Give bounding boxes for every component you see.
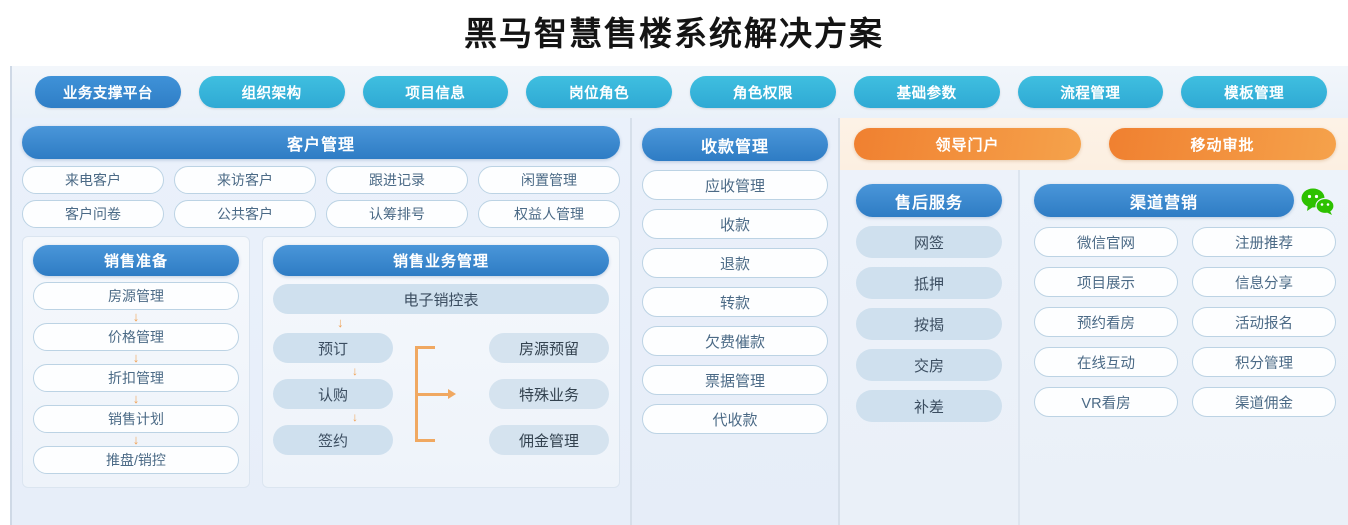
chip-transfer-payment[interactable]: 转款 xyxy=(642,287,828,317)
flow-arrow-down-icon: ↓ xyxy=(352,411,358,423)
chip-visiting-customer[interactable]: 来访客户 xyxy=(174,166,316,194)
nav-pill-project-info[interactable]: 项目信息 xyxy=(363,76,509,108)
chip-property-management[interactable]: 房源管理 xyxy=(33,282,239,310)
channel-marketing-column: 渠道营销 xyxy=(1020,170,1348,525)
wechat-icon xyxy=(1300,186,1336,216)
sales-preparation-flow: 房源管理 ↓ 价格管理 ↓ 折扣管理 ↓ 销售计划 ↓ 推盘/销控 xyxy=(33,282,239,474)
panel-sales-left: 客户管理 来电客户 来访客户 跟进记录 闲置管理 客户问卷 公共客户 认筹排号 … xyxy=(12,118,632,525)
portal-bar: 领导门户 移动审批 xyxy=(840,118,1348,170)
chip-subscription-number[interactable]: 认筹排号 xyxy=(326,200,468,228)
customer-management-header: 客户管理 xyxy=(22,126,620,159)
chip-wechat-official-site[interactable]: 微信官网 xyxy=(1034,227,1178,257)
chip-discount-management[interactable]: 折扣管理 xyxy=(33,364,239,392)
panel-right: 领导门户 移动审批 售后服务 网签 抵押 按揭 交房 补差 xyxy=(840,118,1348,525)
chip-arrears-reminder[interactable]: 欠费催款 xyxy=(642,326,828,356)
chip-mortgage-pledge[interactable]: 抵押 xyxy=(856,267,1002,299)
chip-rights-holder-management[interactable]: 权益人管理 xyxy=(478,200,620,228)
electronic-sales-table-row: 电子销控表 ↓ xyxy=(273,284,609,330)
nav-pill-process-mgmt[interactable]: 流程管理 xyxy=(1018,76,1164,108)
chip-electronic-sales-control-table[interactable]: 电子销控表 xyxy=(273,284,609,314)
chip-online-interaction[interactable]: 在线互动 xyxy=(1034,347,1178,377)
chip-reservation[interactable]: 预订 xyxy=(273,333,393,363)
chip-price-difference[interactable]: 补差 xyxy=(856,390,1002,422)
nav-pill-role-permission[interactable]: 角色权限 xyxy=(690,76,836,108)
nav-pill-business-support[interactable]: 业务支撑平台 xyxy=(35,76,181,108)
top-navigation: 业务支撑平台 组织架构 项目信息 岗位角色 角色权限 基础参数 流程管理 模板管… xyxy=(12,66,1348,118)
sales-business-flow: 预订 房源预留 认购 特殊业务 xyxy=(273,332,609,456)
chip-customer-questionnaire[interactable]: 客户问卷 xyxy=(22,200,164,228)
chip-contract-signing[interactable]: 签约 xyxy=(273,425,393,455)
chip-incoming-call-customer[interactable]: 来电客户 xyxy=(22,166,164,194)
collection-header: 收款管理 xyxy=(642,128,828,161)
chip-sales-plan[interactable]: 销售计划 xyxy=(33,405,239,433)
page-title-bar: 黑马智慧售楼系统解决方案 xyxy=(0,0,1348,62)
chip-registration-referral[interactable]: 注册推荐 xyxy=(1192,227,1336,257)
chip-bill-management[interactable]: 票据管理 xyxy=(642,365,828,395)
chip-event-registration[interactable]: 活动报名 xyxy=(1192,307,1336,337)
nav-pill-org-structure[interactable]: 组织架构 xyxy=(199,76,345,108)
customer-management-items: 来电客户 来访客户 跟进记录 闲置管理 客户问卷 公共客户 认筹排号 权益人管理 xyxy=(22,166,620,228)
chip-vr-house-viewing[interactable]: VR看房 xyxy=(1034,387,1178,417)
portal-button-leader[interactable]: 领导门户 xyxy=(854,128,1081,160)
channel-marketing-items: 微信官网 注册推荐 项目展示 信息分享 预约看房 活动报名 在线互动 积分管理 … xyxy=(1034,227,1336,417)
chip-refund[interactable]: 退款 xyxy=(642,248,828,278)
customer-management-block: 客户管理 来电客户 来访客户 跟进记录 闲置管理 客户问卷 公共客户 认筹排号 … xyxy=(22,126,620,228)
chip-receivable-management[interactable]: 应收管理 xyxy=(642,170,828,200)
portal-button-mobile-approval[interactable]: 移动审批 xyxy=(1109,128,1336,160)
chip-property-reservation[interactable]: 房源预留 xyxy=(489,333,609,363)
after-sales-column: 售后服务 网签 抵押 按揭 交房 补差 xyxy=(840,170,1020,525)
chip-subscription[interactable]: 认购 xyxy=(273,379,393,409)
sales-business-header: 销售业务管理 xyxy=(273,245,609,276)
chip-information-sharing[interactable]: 信息分享 xyxy=(1192,267,1336,297)
flow-arrow-down-icon: ↓ xyxy=(33,351,239,364)
bracket-connector-icon xyxy=(393,332,489,456)
chip-special-business[interactable]: 特殊业务 xyxy=(489,379,609,409)
chip-mortgage-loan[interactable]: 按揭 xyxy=(856,308,1002,340)
flow-arrow-down-icon: ↓ xyxy=(273,314,609,330)
chip-channel-commission[interactable]: 渠道佣金 xyxy=(1192,387,1336,417)
nav-pill-position-role[interactable]: 岗位角色 xyxy=(526,76,672,108)
architecture-board: 业务支撑平台 组织架构 项目信息 岗位角色 角色权限 基础参数 流程管理 模板管… xyxy=(10,66,1348,525)
chip-house-delivery[interactable]: 交房 xyxy=(856,349,1002,381)
flow-arrow-down-icon: ↓ xyxy=(33,392,239,405)
channel-marketing-header-row: 渠道营销 xyxy=(1034,184,1336,217)
chip-receive-payment[interactable]: 收款 xyxy=(642,209,828,239)
chip-public-customer[interactable]: 公共客户 xyxy=(174,200,316,228)
module-columns: 客户管理 来电客户 来访客户 跟进记录 闲置管理 客户问卷 公共客户 认筹排号 … xyxy=(12,118,1348,525)
flow-arrow-down-icon: ↓ xyxy=(33,433,239,446)
chip-launch-sales-control[interactable]: 推盘/销控 xyxy=(33,446,239,474)
flow-arrow-down-icon: ↓ xyxy=(33,310,239,323)
chip-follow-up-record[interactable]: 跟进记录 xyxy=(326,166,468,194)
nav-pill-basic-params[interactable]: 基础参数 xyxy=(854,76,1000,108)
sales-preparation-box: 销售准备 房源管理 ↓ 价格管理 ↓ 折扣管理 ↓ 销售计划 ↓ 推盘/销控 xyxy=(22,236,250,488)
chip-online-signing[interactable]: 网签 xyxy=(856,226,1002,258)
chip-points-management[interactable]: 积分管理 xyxy=(1192,347,1336,377)
solution-architecture-diagram: 黑马智慧售楼系统解决方案 业务支撑平台 组织架构 项目信息 岗位角色 角色权限 … xyxy=(0,0,1348,525)
chip-project-showcase[interactable]: 项目展示 xyxy=(1034,267,1178,297)
after-sales-header: 售后服务 xyxy=(856,184,1002,217)
chip-idle-management[interactable]: 闲置管理 xyxy=(478,166,620,194)
panel-collection: 收款管理 应收管理 收款 退款 转款 欠费催款 票据管理 代收款 xyxy=(632,118,840,525)
sales-preparation-header: 销售准备 xyxy=(33,245,239,276)
sales-lower-row: 销售准备 房源管理 ↓ 价格管理 ↓ 折扣管理 ↓ 销售计划 ↓ 推盘/销控 xyxy=(22,236,620,488)
chip-commission-management[interactable]: 佣金管理 xyxy=(489,425,609,455)
sales-business-box: 销售业务管理 电子销控表 ↓ 预订 xyxy=(262,236,620,488)
nav-pill-template-mgmt[interactable]: 模板管理 xyxy=(1181,76,1327,108)
chip-price-management[interactable]: 价格管理 xyxy=(33,323,239,351)
flow-arrow-down-icon: ↓ xyxy=(352,365,358,377)
right-columns: 售后服务 网签 抵押 按揭 交房 补差 渠道营销 xyxy=(840,170,1348,525)
chip-viewing-appointment[interactable]: 预约看房 xyxy=(1034,307,1178,337)
chip-agency-collection[interactable]: 代收款 xyxy=(642,404,828,434)
channel-marketing-header: 渠道营销 xyxy=(1034,184,1294,217)
page-title: 黑马智慧售楼系统解决方案 xyxy=(464,7,884,55)
